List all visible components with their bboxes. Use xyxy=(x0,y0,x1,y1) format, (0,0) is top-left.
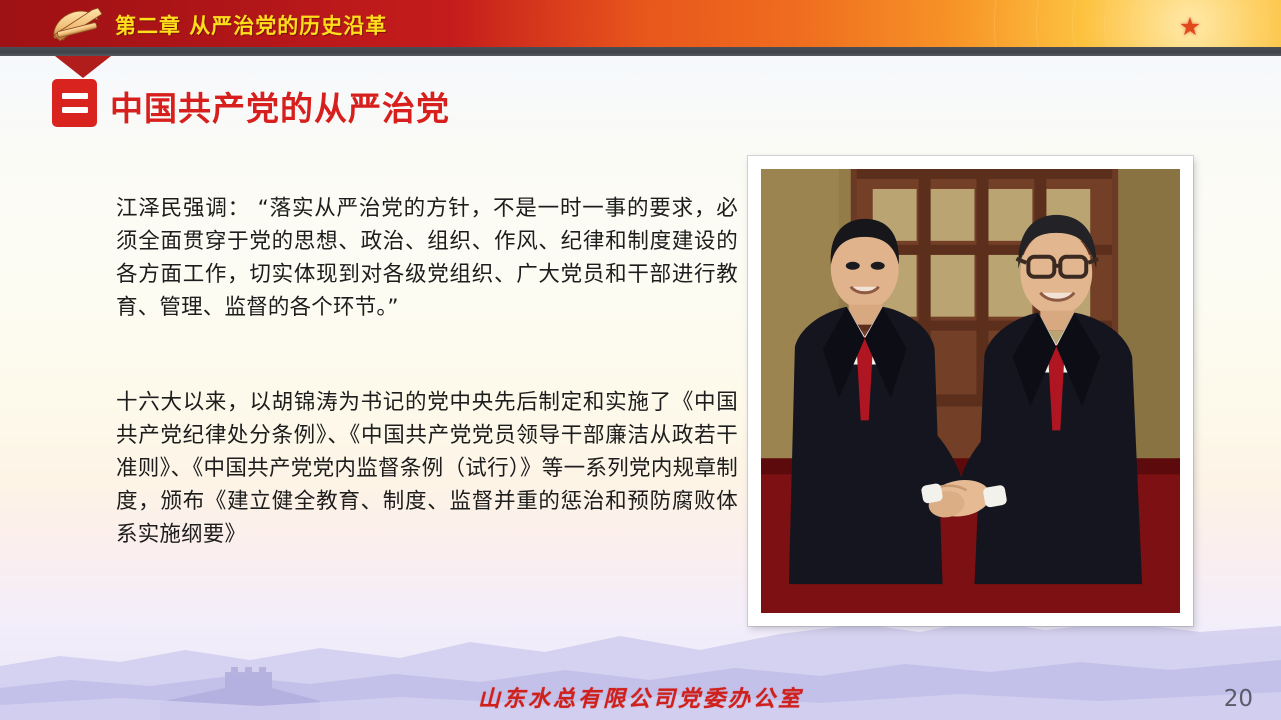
section-number-badge xyxy=(52,79,97,127)
slide-canvas: ★ 第二章 从严治党的历史沿革 xyxy=(0,0,1281,720)
handshake-photo-illustration xyxy=(761,169,1180,613)
handshake-photo xyxy=(761,169,1180,613)
red-star-icon: ★ xyxy=(1178,15,1202,38)
header-ring-decoration xyxy=(861,0,1281,47)
photo-frame xyxy=(748,156,1193,626)
paragraph-2: 十六大以来，以胡锦涛为书记的党中央先后制定和实施了《中国共产党纪律处分条例》、《… xyxy=(116,386,738,551)
badge-bar-top xyxy=(62,93,88,99)
organization-footer: 山东水总有限公司党委办公室 xyxy=(0,681,1281,713)
hammer-and-sickle-icon xyxy=(40,2,112,46)
page-number: 20 xyxy=(1224,686,1253,712)
paragraph-1: 江泽民强调： “落实从严治党的方针，不是一时一事的要求，必须全面贯穿于党的思想、… xyxy=(116,192,738,324)
chapter-title: 第二章 从严治党的历史沿革 xyxy=(115,10,387,40)
section-title: 中国共产党的从严治党 xyxy=(110,82,450,130)
down-triangle-icon xyxy=(55,56,111,78)
body-text-block: 江泽民强调： “落实从严治党的方针，不是一时一事的要求，必须全面贯穿于党的思想、… xyxy=(116,192,738,551)
badge-bar-bottom xyxy=(62,107,88,113)
header-divider xyxy=(0,47,1281,56)
chapter-header-bar: ★ 第二章 从严治党的历史沿革 xyxy=(0,0,1281,47)
